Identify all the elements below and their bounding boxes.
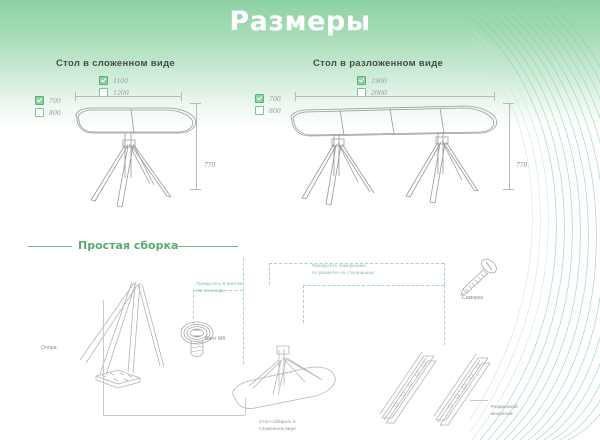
folded-height-dimension-line (196, 103, 197, 189)
label-support: Опора (41, 345, 57, 351)
option-row[interactable]: 1900 (357, 75, 387, 86)
unfolded-width-dimension-line (295, 96, 495, 97)
dim-tick (503, 103, 514, 104)
callout-line (444, 263, 445, 285)
page-title: Размеры (0, 6, 600, 37)
label-screw: Саморез (462, 295, 483, 301)
checkbox-checked-icon[interactable] (255, 94, 264, 103)
option-row[interactable]: 800 (255, 105, 281, 116)
callout-line (303, 285, 444, 286)
section-heading-folded: Стол в сложенном виде (56, 58, 175, 69)
section-heading-unfolded: Стол в разложенном виде (313, 58, 443, 69)
option-row[interactable]: 700 (255, 93, 281, 104)
note-bolts: Прикрутить 8 винтов М6 на опоры (196, 281, 242, 294)
folded-table-drawing (55, 100, 205, 215)
callout-line (444, 285, 445, 345)
checkbox-checked-icon[interactable] (99, 76, 108, 85)
callout-line (470, 400, 488, 401)
callout-line (243, 258, 244, 364)
assembly-section-header: Простая сборка (28, 240, 238, 254)
rails-drawing (378, 340, 503, 432)
folded-width-dimension-line (75, 96, 182, 97)
callout-line (245, 398, 246, 415)
assembly-heading: Простая сборка (78, 239, 178, 252)
divider-line-left (28, 246, 72, 247)
assembly-table-drawing (215, 320, 345, 420)
callout-line (193, 290, 194, 324)
unfolded-height-dimension-line (509, 103, 510, 189)
callout-line (303, 285, 304, 323)
option-value: 1100 (113, 76, 128, 85)
note-mechanism: Раздвижной механизм (491, 404, 518, 417)
option-value: 1900 (371, 76, 387, 85)
checkbox-checked-icon[interactable] (35, 96, 44, 105)
checkbox-empty-icon[interactable] (35, 108, 44, 117)
unfolded-height-value: 770 (516, 160, 527, 169)
option-row[interactable]: 1100 (99, 75, 129, 86)
checkbox-empty-icon[interactable] (255, 106, 264, 115)
dim-tick (190, 189, 201, 190)
dim-tick (190, 103, 201, 104)
divider-line-right (176, 246, 238, 247)
support-drawing (40, 280, 185, 400)
unfolded-table-drawing (278, 100, 513, 215)
unfolded-depth-options: 700 800 (255, 93, 281, 117)
dim-tick (503, 189, 514, 190)
screw-drawing (455, 258, 501, 298)
note-screws: Прикрутить саморезами по разметке на сто… (312, 263, 374, 276)
callout-line (103, 415, 245, 416)
note-folded: Стол собирать в сложенном виде (259, 419, 296, 432)
callout-line (103, 300, 104, 415)
callout-line (269, 263, 270, 285)
folded-height-value: 770 (204, 160, 215, 169)
poster-root: Размеры Сто (0, 0, 600, 440)
checkbox-checked-icon[interactable] (357, 76, 366, 85)
